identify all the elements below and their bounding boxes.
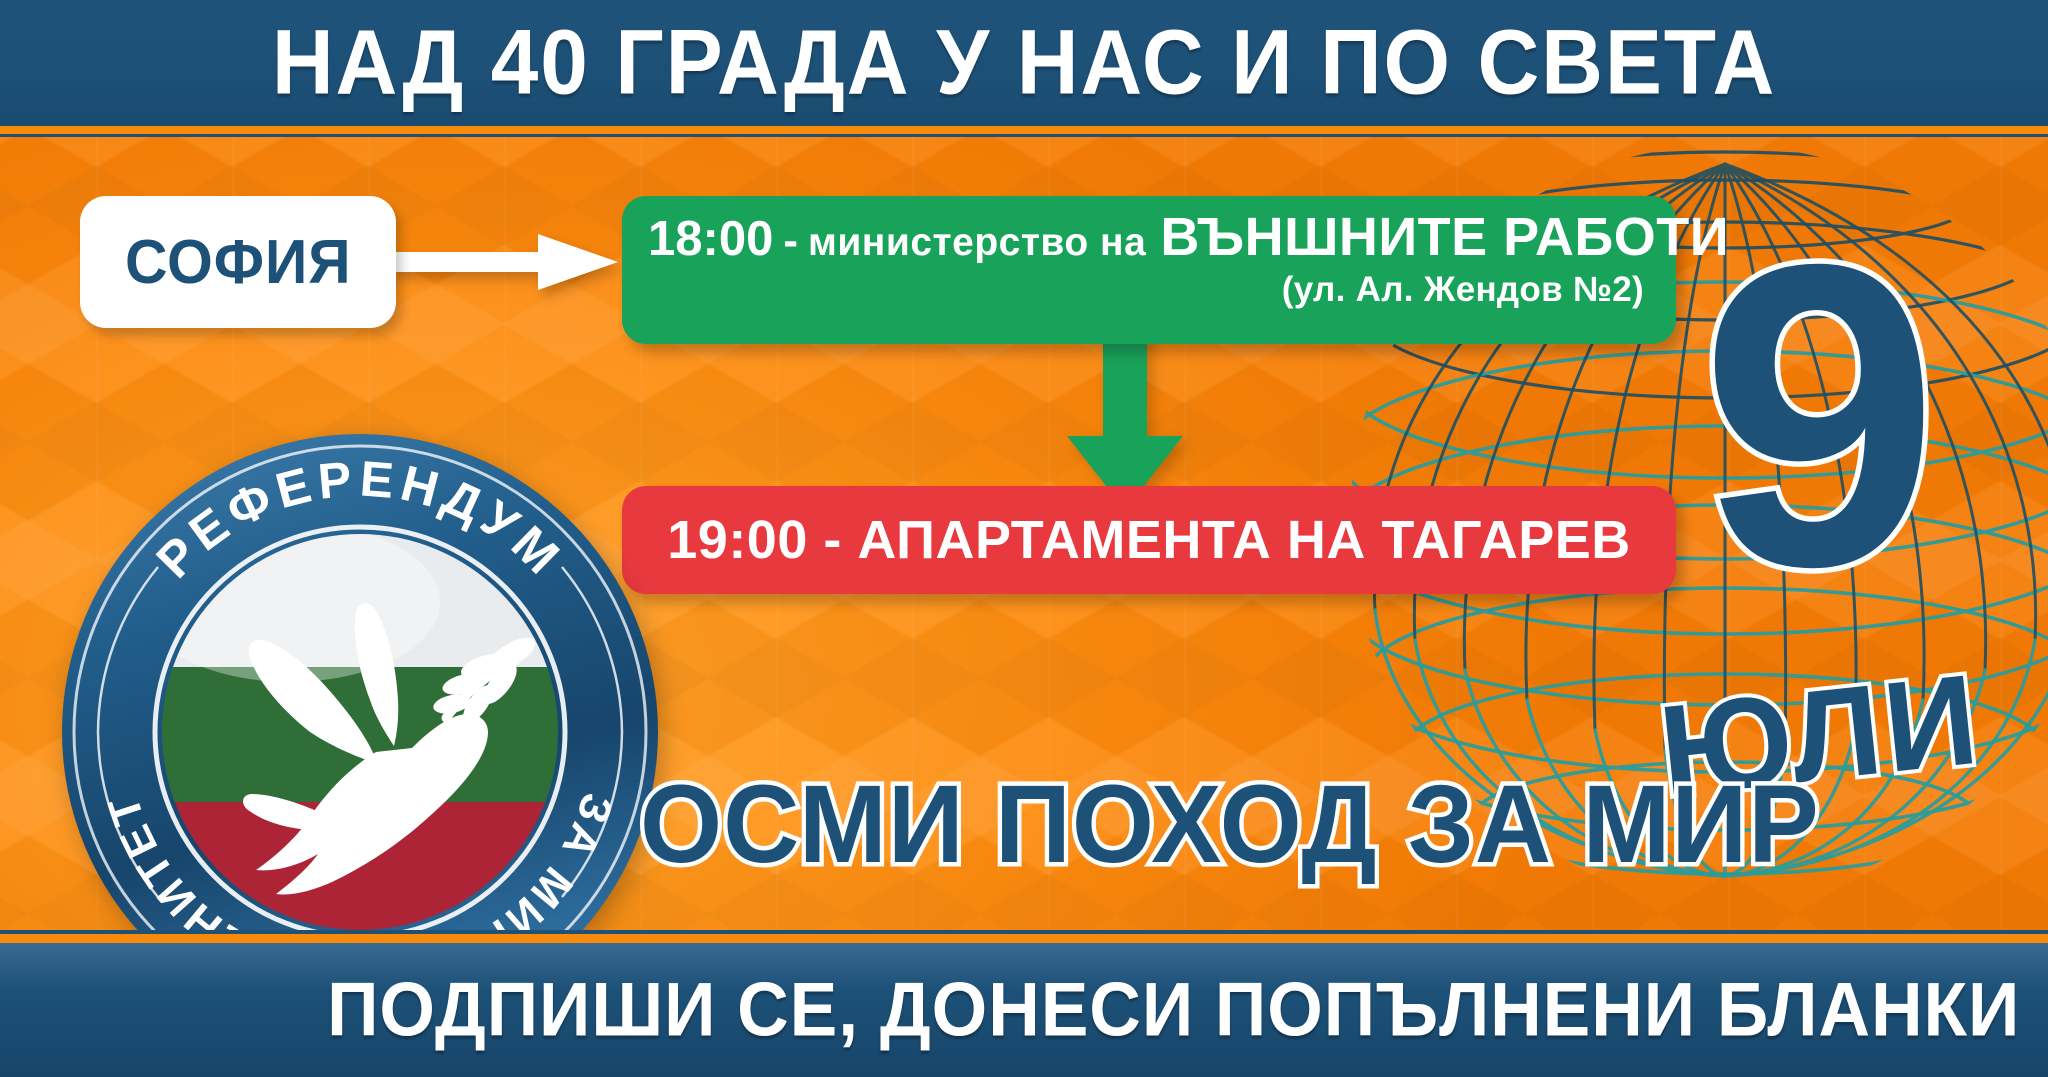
footer-orange-stripe <box>0 934 2048 943</box>
event-green-place: ВЪНШНИТЕ РАБОТИ <box>1160 207 1729 267</box>
event-red-text: 19:00 - АПАРТАМЕНТА НА ТАГАРЕВ <box>667 509 1630 571</box>
city-chip: СОФИЯ <box>80 196 396 328</box>
header-band: НАД 40 ГРАДА У НАС И ПО СВЕТА <box>0 0 2048 126</box>
arrow-right-icon <box>388 234 618 290</box>
footer-blue-stripe <box>0 930 2048 934</box>
city-label: СОФИЯ <box>125 227 352 298</box>
header-orange-stripe <box>0 126 2048 134</box>
event-green-dash: - <box>773 216 808 265</box>
footer-band: ПОДПИШИ СЕ, ДОНЕСИ ПОПЪЛНЕНИ БЛАНКИ <box>0 943 2048 1077</box>
event-box-red: 19:00 - АПАРТАМЕНТА НА ТАГАРЕВ <box>622 486 1676 594</box>
footer-call-to-action: ПОДПИШИ СЕ, ДОНЕСИ ПОПЪЛНЕНИ БЛАНКИ <box>327 967 2020 1054</box>
arrow-down-icon <box>1065 330 1185 510</box>
march-title: ОСМИ ПОХОД ЗА МИР <box>640 770 1869 880</box>
page-title: НАД 40 ГРАДА У НАС И ПО СВЕТА <box>72 11 1977 116</box>
event-green-line1: 18:00-министерство наВЪНШНИТЕ РАБОТИ <box>648 210 1650 264</box>
event-green-time: 18:00 <box>648 212 773 266</box>
event-green-address: (ул. Ал. Жендов №2) <box>648 270 1650 310</box>
event-box-green: 18:00-министерство наВЪНШНИТЕ РАБОТИ (ул… <box>622 196 1676 344</box>
header-blue-stripe <box>0 134 2048 137</box>
event-green-prefix: министерство на <box>808 221 1146 264</box>
poster-canvas: НАД 40 ГРАДА У НАС И ПО СВЕТА СОФИЯ 18:0… <box>0 0 2048 1077</box>
march-title-value: ОСМИ ПОХОД ЗА МИР <box>640 770 1820 880</box>
